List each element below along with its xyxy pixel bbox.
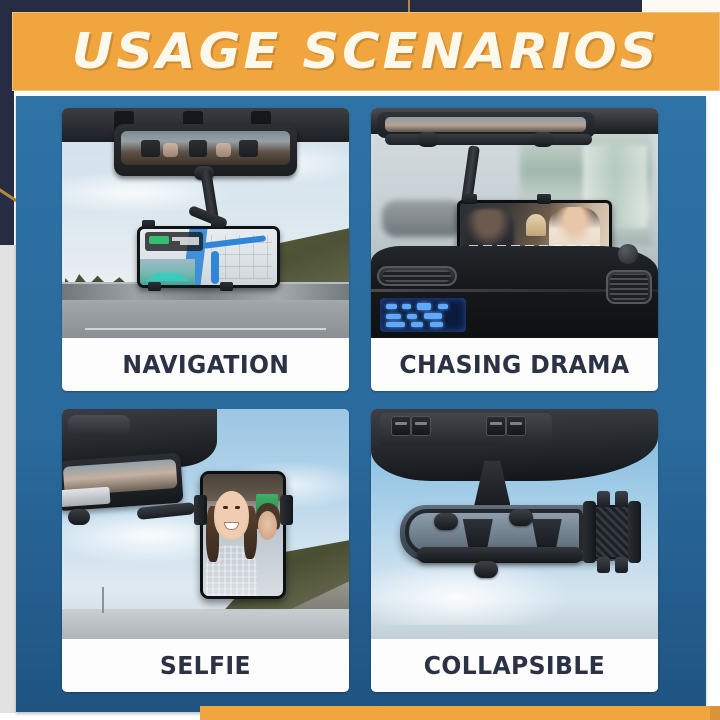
screen-indicator: [386, 304, 397, 309]
scenario-photo-chasing-drama: [371, 108, 658, 338]
face-eye: [223, 506, 228, 509]
scenario-card-collapsible[interactable]: COLLAPSIBLE: [371, 409, 658, 692]
passenger-face: [258, 511, 277, 540]
holder-grip-bottom: [615, 557, 628, 573]
scenario-photo-collapsible: [371, 409, 658, 639]
screen-indicator: [430, 322, 444, 327]
header-banner-inner: USAGE SCENARIOS: [12, 12, 720, 91]
mount-knob-icon: [417, 132, 439, 147]
mirror-clamp: [62, 487, 111, 507]
phone-clamp-icon: [463, 194, 477, 204]
screen-indicator: [386, 322, 405, 327]
scenario-card-selfie[interactable]: SELFIE: [62, 409, 349, 692]
mount-knob-icon: [509, 509, 533, 526]
scenario-photo-selfie: [62, 409, 349, 639]
blurred-car: [382, 200, 462, 237]
phone-clamp-icon: [220, 282, 233, 291]
scenario-caption: CHASING DRAMA: [371, 338, 658, 391]
mounted-phone: [137, 226, 281, 288]
overhead-button-icon: [506, 416, 526, 436]
left-grey-band: [0, 245, 16, 713]
mount-knob-icon: [68, 509, 90, 525]
holder-grip-top: [597, 491, 610, 507]
reflected-seat: [239, 140, 258, 157]
road-surface: [62, 609, 349, 639]
usage-scenarios-poster: USAGE SCENARIOS: [0, 0, 720, 720]
page-title: USAGE SCENARIOS: [72, 23, 660, 80]
screen-indicator: [411, 322, 423, 327]
hud-distance-badge: [149, 236, 169, 245]
holder-backplate: [593, 505, 631, 559]
air-vent-left: [377, 266, 457, 286]
vent-slats: [610, 274, 648, 300]
scenario-caption: NAVIGATION: [62, 338, 349, 391]
infotainment-screen: [380, 298, 466, 332]
cloud-shape: [371, 556, 572, 625]
phone-clamp-icon: [194, 495, 207, 525]
navigation-hud: [145, 232, 203, 251]
overhead-button-icon: [391, 416, 411, 436]
mounted-phone: [200, 471, 286, 599]
screen-indicator: [438, 304, 448, 309]
button-glyph: [490, 422, 502, 425]
screen-indicator: [386, 314, 401, 319]
car-headliner: [371, 409, 658, 481]
hud-text-line: [180, 241, 200, 245]
screen-indicator: [402, 304, 411, 309]
holder-grip-bottom: [597, 557, 610, 573]
rearview-mirror: [62, 453, 184, 512]
holder-grip-top: [615, 491, 628, 507]
button-glyph: [510, 422, 522, 425]
reflected-seat: [141, 140, 160, 157]
scenario-label-collapsible: COLLAPSIBLE: [424, 651, 605, 680]
map-ar-camera-view: [140, 259, 195, 285]
scenario-card-navigation[interactable]: NAVIGATION: [62, 108, 349, 391]
button-glyph: [415, 422, 427, 425]
scenario-label-navigation: NAVIGATION: [122, 350, 289, 379]
mirror-glass: [385, 117, 586, 133]
phone-screen-selfie: [203, 474, 283, 596]
mount-cross-bar: [417, 547, 583, 563]
headliner-panel: [68, 415, 130, 437]
phone-clamp-icon: [148, 282, 161, 291]
scenario-caption: SELFIE: [62, 639, 349, 692]
scenario-card-chasing-drama[interactable]: CHASING DRAMA: [371, 108, 658, 391]
button-glyph: [395, 422, 407, 425]
screen-indicator: [417, 303, 431, 310]
selfie-subject-face: [214, 491, 249, 540]
phone-clamp-icon: [537, 194, 551, 204]
ar-lane-arrow: [144, 273, 190, 282]
scenario-grid: NAVIGATION: [62, 108, 658, 692]
scenario-caption: COLLAPSIBLE: [371, 639, 658, 692]
face-eye: [235, 506, 240, 509]
bottom-orange-bar-edge: [710, 706, 720, 720]
mirror-glass: [121, 131, 290, 164]
screen-indicator: [407, 314, 417, 319]
reflected-seat: [189, 140, 208, 157]
bottom-orange-bar: [200, 706, 720, 720]
holder-jaw-right: [628, 501, 641, 563]
video-lamp: [526, 214, 547, 236]
mount-knob-icon: [474, 561, 498, 578]
scenario-label-selfie: SELFIE: [160, 651, 251, 680]
reflected-headrest: [216, 143, 231, 157]
phone-screen-map: [140, 229, 278, 285]
phone-clamp-icon: [211, 220, 224, 229]
roadside-pole: [102, 587, 104, 613]
phone-clamp-icon: [280, 495, 293, 525]
map-route-branch: [211, 251, 219, 283]
screen-indicator: [424, 313, 441, 319]
scenario-label-chasing-drama: CHASING DRAMA: [399, 350, 629, 379]
air-vent-right: [606, 270, 652, 304]
road-lane-line: [85, 328, 326, 330]
overhead-button-icon: [486, 416, 506, 436]
vent-slats: [383, 270, 451, 282]
overhead-button-icon: [411, 416, 431, 436]
phone-clamp-icon: [142, 220, 155, 229]
mount-knob-icon: [434, 513, 458, 530]
reflected-headrest: [163, 143, 178, 157]
dashboard-knob-icon: [618, 244, 638, 264]
scenario-photo-navigation: [62, 108, 349, 338]
mount-knob-icon: [532, 132, 554, 147]
holder-jaw-left: [583, 501, 596, 563]
phone-holder-folded: [583, 497, 641, 567]
header-banner: USAGE SCENARIOS: [12, 12, 720, 91]
